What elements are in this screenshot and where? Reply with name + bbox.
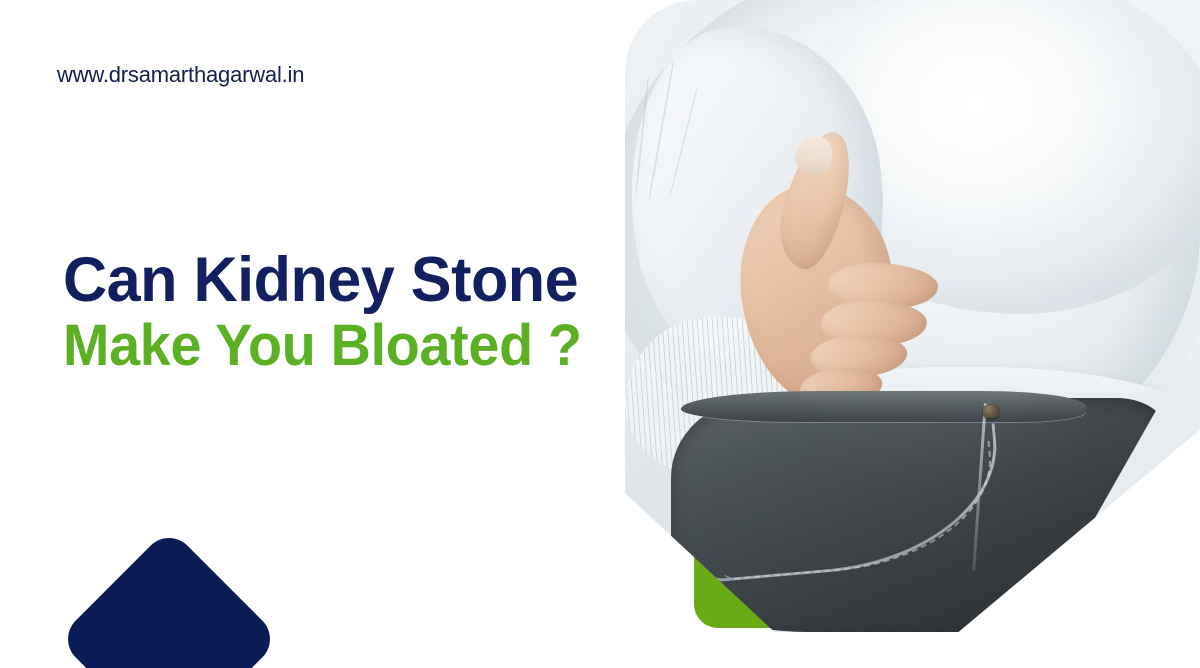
jeans <box>671 398 1166 632</box>
headline-line-1: Can Kidney Stone <box>63 248 606 312</box>
blog-banner: www.drsamarthagarwal.in Can Kidney Stone… <box>0 0 1200 668</box>
hero-photo <box>625 0 1200 632</box>
sleeve-fold <box>648 60 675 200</box>
jeans-button <box>983 405 999 418</box>
sleeve-fold <box>669 86 698 196</box>
jeans-waistband <box>681 391 1086 421</box>
headline-block: Can Kidney Stone Make You Bloated ? <box>63 248 623 381</box>
headline-line-2: Make You Bloated ? <box>63 312 601 380</box>
website-url[interactable]: www.drsamarthagarwal.in <box>57 62 304 88</box>
hero-photo-image <box>625 0 1200 632</box>
navy-diamond-shape <box>57 527 280 668</box>
